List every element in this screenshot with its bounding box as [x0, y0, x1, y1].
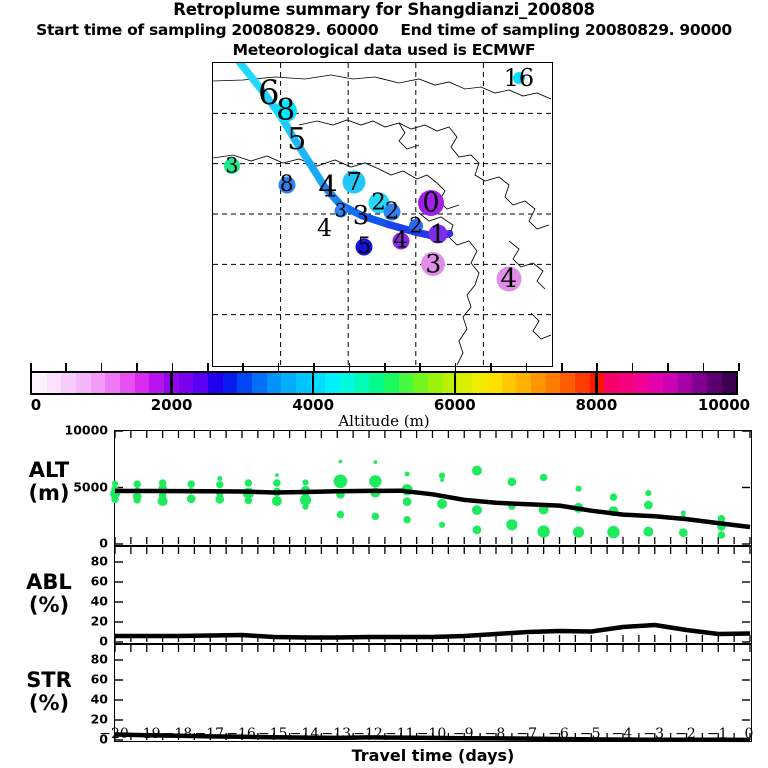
alt-scatter-points: [110, 460, 726, 539]
x-tick-label: −18: [163, 726, 193, 742]
colorbar-swatch: [722, 373, 737, 393]
colorbar-swatch: [619, 373, 634, 393]
map-cluster-dot: [278, 177, 295, 194]
y-tick-label: 60: [91, 672, 108, 687]
colorbar-swatch: [325, 373, 340, 393]
colorbar-swatch: [76, 373, 91, 393]
x-tick-label: −11: [385, 726, 415, 742]
colorbar-swatch: [120, 373, 135, 393]
abl-axis-ticks: [115, 547, 750, 642]
alt-axis-ticks: [115, 431, 750, 544]
colorbar-tick: [65, 363, 67, 371]
map-cluster-dot: [421, 252, 445, 276]
x-tick-label: −10: [417, 726, 447, 742]
x-tick-label: 0: [745, 726, 754, 742]
colorbar-tick: [596, 363, 598, 371]
colorbar-tick: [30, 363, 32, 371]
x-tick-label: −2: [675, 726, 696, 742]
colorbar-swatch: [604, 373, 619, 393]
y-tick-label: 20: [91, 712, 108, 727]
colorbar-swatch: [399, 373, 414, 393]
y-tick-label: 60: [91, 574, 108, 589]
colorbar-tick: [632, 363, 634, 371]
y-tick-label: 0: [99, 634, 108, 649]
map-cluster-dot: [275, 100, 297, 122]
colorbar-gradient: [30, 371, 738, 395]
colorbar-tick: [242, 363, 244, 371]
x-tick-label: −1: [707, 726, 728, 742]
map-cluster-dot: [334, 204, 347, 217]
alt-mean-line: [115, 491, 750, 527]
colorbar-tick: [136, 363, 138, 371]
abl-label-line1: ABL: [6, 571, 92, 594]
str-row-label: STR (%): [6, 669, 92, 715]
x-axis-title: Travel time (days): [114, 746, 752, 765]
colorbar-swatch: [502, 373, 517, 393]
colorbar-swatch: [546, 373, 561, 393]
colorbar-swatch: [237, 373, 252, 393]
abl-row-label: ABL (%): [6, 571, 92, 617]
colorbar-separator: [454, 371, 457, 395]
colorbar-swatch: [47, 373, 62, 393]
alt-plot-graphics: [115, 431, 750, 544]
x-tick-label: −5: [580, 726, 601, 742]
abl-plot[interactable]: [114, 546, 752, 644]
colorbar-swatch: [149, 373, 164, 393]
x-tick-label: −12: [353, 726, 383, 742]
colorbar-swatch: [692, 373, 707, 393]
alt-plot[interactable]: [114, 430, 752, 546]
map-cluster-dot: [392, 232, 409, 249]
title-block: Retroplume summary for Shangdianzi_20080…: [0, 0, 768, 60]
x-tick-label: −9: [453, 726, 474, 742]
colorbar-swatch: [281, 373, 296, 393]
colorbar-swatch: [634, 373, 649, 393]
x-tick-label: −15: [258, 726, 288, 742]
map-cluster-dot: [409, 219, 423, 233]
colorbar-separator: [170, 371, 173, 395]
map-cluster-dot: [496, 266, 521, 291]
met-data-label: Meteorological data used is ECMWF: [0, 40, 768, 60]
x-tick-label: −17: [194, 726, 224, 742]
y-tick-label: 20: [91, 614, 108, 629]
x-tick-label: −20: [99, 726, 129, 742]
sampling-times: Start time of sampling 20080829. 60000En…: [0, 20, 768, 40]
str-label-line2: (%): [6, 692, 92, 715]
map-graphics: [213, 63, 551, 365]
colorbar-swatch: [208, 373, 223, 393]
colorbar-swatch: [179, 373, 194, 393]
colorbar-swatch: [105, 373, 120, 393]
y-tick-label: 80: [91, 652, 108, 667]
colorbar-separator: [595, 371, 598, 395]
x-tick-label: −7: [516, 726, 537, 742]
x-tick-label: −14: [290, 726, 320, 742]
map-gridlines: [213, 63, 551, 365]
str-label-line1: STR: [6, 669, 92, 692]
retroplume-map[interactable]: 685384743322542013416: [212, 62, 553, 367]
colorbar-swatch: [707, 373, 722, 393]
colorbar-swatch: [648, 373, 663, 393]
x-tick-label: −19: [131, 726, 161, 742]
colorbar-separator: [312, 371, 315, 395]
x-tick-label: −4: [612, 726, 633, 742]
colorbar-swatch: [223, 373, 238, 393]
colorbar-swatch: [575, 373, 590, 393]
colorbar-swatch: [296, 373, 311, 393]
abl-label-line2: (%): [6, 594, 92, 617]
colorbar-tick: [667, 363, 669, 371]
abl-plot-graphics: [115, 547, 750, 642]
colorbar-swatch: [61, 373, 76, 393]
colorbar-tick: [349, 363, 351, 371]
colorbar-swatch: [531, 373, 546, 393]
colorbar-tick: [101, 363, 103, 371]
map-cluster-dot: [513, 72, 525, 84]
y-tick-label: 10000: [65, 423, 109, 438]
page-title: Retroplume summary for Shangdianzi_20080…: [0, 0, 768, 20]
colorbar-swatch: [413, 373, 428, 393]
colorbar-tick: [207, 363, 209, 371]
colorbar-tick: [384, 363, 386, 371]
colorbar-swatch: [355, 373, 370, 393]
colorbar-title: Altitude (m): [0, 412, 768, 430]
colorbar-tick: [455, 363, 457, 371]
colorbar-swatch: [472, 373, 487, 393]
y-tick-label: 0: [99, 536, 108, 551]
colorbar-swatch: [487, 373, 502, 393]
colorbar-swatch: [457, 373, 472, 393]
y-tick-label: 80: [91, 554, 108, 569]
y-tick-label: 40: [91, 594, 108, 609]
colorbar-swatch: [678, 373, 693, 393]
colorbar-swatch: [340, 373, 355, 393]
colorbar-tick: [278, 363, 280, 371]
start-time-label: Start time of sampling 20080829. 60000: [36, 21, 378, 39]
colorbar-tick: [313, 363, 315, 371]
colorbar-tick: [738, 363, 740, 371]
map-cluster-dot: [356, 238, 373, 255]
colorbar-tick: [419, 363, 421, 371]
colorbar-tick: [172, 363, 174, 371]
colorbar-swatch: [267, 373, 282, 393]
colorbar-swatch: [135, 373, 150, 393]
x-tick-label: −3: [643, 726, 664, 742]
end-time-label: End time of sampling 20080829. 90000: [400, 21, 731, 39]
colorbar-tick: [490, 363, 492, 371]
x-tick-label: −6: [548, 726, 569, 742]
colorbar-swatch: [91, 373, 106, 393]
colorbar-tick: [703, 363, 705, 371]
colorbar-swatch: [369, 373, 384, 393]
colorbar-swatch: [384, 373, 399, 393]
colorbar-tick: [561, 363, 563, 371]
y-tick-label: 5000: [73, 479, 108, 494]
x-tick-label: −13: [321, 726, 351, 742]
x-tick-label: −16: [226, 726, 256, 742]
colorbar-swatch: [193, 373, 208, 393]
colorbar-swatch: [428, 373, 443, 393]
colorbar-swatch: [252, 373, 267, 393]
colorbar-swatch: [560, 373, 575, 393]
colorbar-swatch: [32, 373, 47, 393]
map-cluster-dot: [428, 224, 447, 243]
y-tick-label: 40: [91, 692, 108, 707]
altitude-colorbar[interactable]: [30, 371, 738, 395]
map-cluster-dot: [384, 204, 401, 221]
colorbar-swatch: [516, 373, 531, 393]
x-tick-label: −8: [485, 726, 506, 742]
map-cluster-dot: [418, 190, 444, 216]
map-cluster-dot: [343, 171, 366, 194]
colorbar-tick: [526, 363, 528, 371]
colorbar-swatch: [663, 373, 678, 393]
map-cluster-dot: [224, 158, 240, 174]
